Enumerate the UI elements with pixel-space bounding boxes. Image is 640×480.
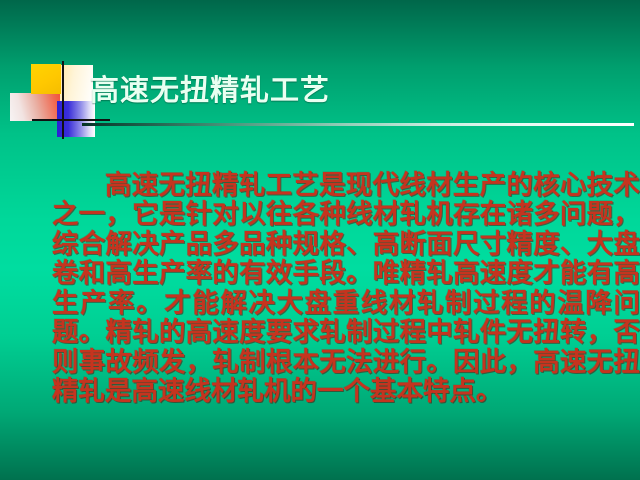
- slide-body-paragraph: 高速无扭精轧工艺是现代线材生产的核心技术之一，它是针对以往各种线材轧机存在诸多问…: [52, 171, 640, 407]
- title-divider-rule: [82, 123, 634, 126]
- yellow-square-shape: [31, 64, 61, 94]
- presentation-slide: 高速无扭精轧工艺 高速无扭精轧工艺是现代线材生产的核心技术之一，它是针对以往各种…: [0, 0, 640, 480]
- cream-square-shape: [60, 65, 93, 101]
- decorative-logo: [10, 61, 92, 139]
- slide-title: 高速无扭精轧工艺: [90, 74, 330, 107]
- crosshair-vertical-icon: [62, 61, 64, 139]
- crosshair-horizontal-icon: [32, 119, 110, 121]
